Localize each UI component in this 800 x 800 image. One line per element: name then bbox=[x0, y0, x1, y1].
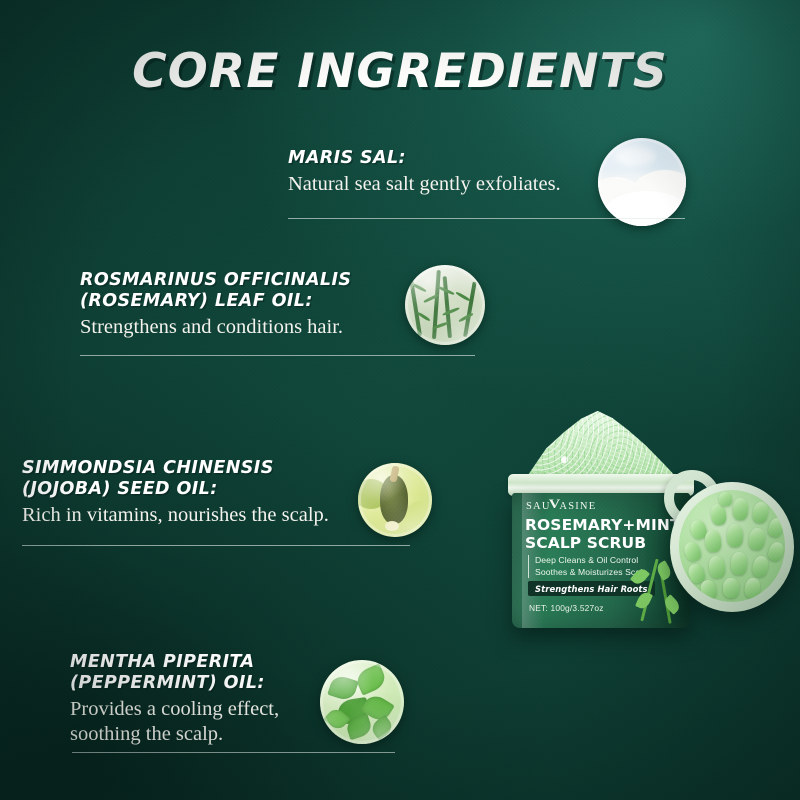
ingredient-heading-line2: (ROSEMARY) LEAF OIL: bbox=[80, 291, 351, 312]
jojoba-seed-photo bbox=[358, 463, 432, 537]
divider bbox=[80, 355, 475, 356]
ingredient-item-maris-sal: MARIS SAL: Natural sea salt gently exfol… bbox=[288, 148, 561, 197]
page-title: CORE INGREDIENTS bbox=[0, 44, 800, 99]
ingredient-heading: MARIS SAL: bbox=[288, 148, 561, 169]
product-badge: Strengthens Hair Roots bbox=[528, 581, 655, 596]
sea-salt-photo bbox=[598, 138, 686, 226]
brand-name: SAUVASINE bbox=[526, 501, 596, 512]
product-benefit-2: Soothes & Moisturizes Scalp bbox=[535, 567, 647, 579]
peppermint-photo bbox=[320, 660, 404, 744]
divider bbox=[288, 218, 685, 219]
product-name-line2: SCALP SCRUB bbox=[525, 535, 681, 553]
product-name-line1: ROSEMARY+MINT bbox=[525, 517, 681, 535]
product-name: ROSEMARY+MINT SCALP SCRUB bbox=[525, 517, 681, 552]
ingredients-infographic: CORE INGREDIENTS MARIS SAL: Natural sea … bbox=[0, 0, 800, 800]
ingredient-heading-line2: (JOJOBA) SEED OIL: bbox=[22, 479, 329, 500]
ingredient-description-line2: soothing the scalp. bbox=[70, 722, 279, 747]
ingredient-item-rosemary: ROSMARINUS OFFICINALIS (ROSEMARY) LEAF O… bbox=[80, 270, 351, 340]
ingredient-description-line1: Provides a cooling effect, bbox=[70, 697, 279, 722]
scalp-massager-brush bbox=[660, 468, 800, 648]
divider bbox=[22, 545, 410, 546]
ingredient-description: Rich in vitamins, nourishes the scalp. bbox=[22, 503, 329, 528]
product-benefits: Deep Cleans & Oil Control Soothes & Mois… bbox=[528, 555, 647, 578]
ingredient-heading-line1: SIMMONDSIA CHINENSIS bbox=[22, 458, 329, 479]
ingredient-description: Strengthens and conditions hair. bbox=[80, 315, 351, 340]
ingredient-item-jojoba: SIMMONDSIA CHINENSIS (JOJOBA) SEED OIL: … bbox=[22, 458, 329, 528]
ingredient-item-peppermint: MENTHA PIPERITA (PEPPERMINT) OIL: Provid… bbox=[70, 652, 279, 747]
brush-bristle-pad bbox=[679, 490, 785, 602]
product-net-weight: NET: 100g/3.527oz bbox=[529, 603, 604, 613]
rosemary-photo bbox=[405, 265, 485, 345]
ingredient-heading-line1: MENTHA PIPERITA bbox=[70, 652, 279, 673]
divider bbox=[72, 752, 395, 753]
product-benefit-1: Deep Cleans & Oil Control bbox=[535, 555, 647, 567]
ingredient-heading-line2: (PEPPERMINT) OIL: bbox=[70, 673, 279, 694]
ingredient-description: Natural sea salt gently exfoliates. bbox=[288, 172, 561, 197]
ingredient-heading-line1: ROSMARINUS OFFICINALIS bbox=[80, 270, 351, 291]
